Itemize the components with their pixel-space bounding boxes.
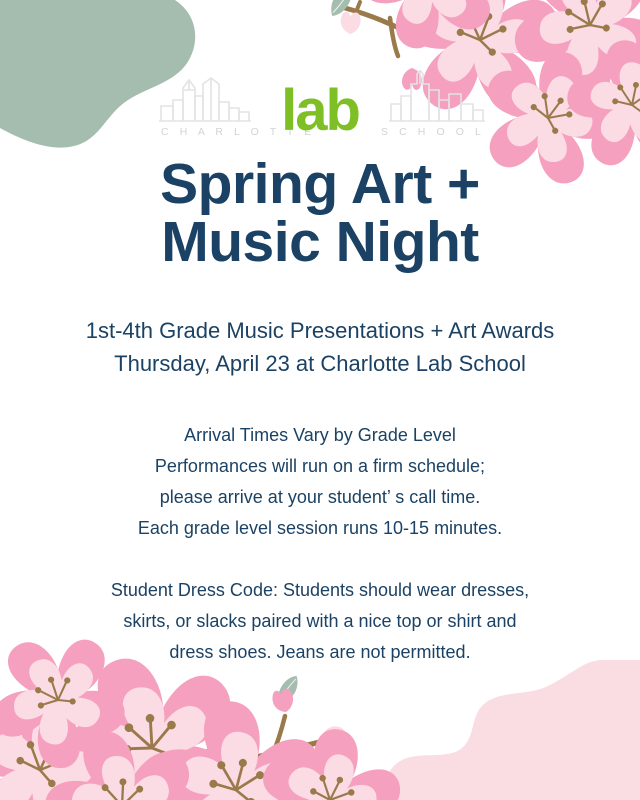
- headline-line-2: Music Night: [0, 213, 640, 271]
- arrival-line-2: Performances will run on a firm schedule…: [0, 451, 640, 482]
- arrival-info-paragraph: Arrival Times Vary by Grade Level Perfor…: [0, 420, 640, 544]
- headline-line-1: Spring Art +: [0, 155, 640, 213]
- dress-code-paragraph: Student Dress Code: Students should wear…: [0, 575, 640, 668]
- arrival-line-3: please arrive at your student’ s call ti…: [0, 482, 640, 513]
- dress-code-line-2: skirts, or slacks paired with a nice top…: [0, 606, 640, 637]
- dress-code-line-1: Student Dress Code: Students should wear…: [0, 575, 640, 606]
- arrival-line-1: Arrival Times Vary by Grade Level: [0, 420, 640, 451]
- arrival-line-4: Each grade level session runs 10-15 minu…: [0, 513, 640, 544]
- subhead-line-1: 1st-4th Grade Music Presentations + Art …: [0, 314, 640, 347]
- poster-canvas: C H A R L O T T E lab S C H O O L Spring…: [0, 0, 640, 800]
- dress-code-line-3: dress shoes. Jeans are not permitted.: [0, 637, 640, 668]
- page-title: Spring Art + Music Night: [0, 155, 640, 271]
- subhead-line-2: Thursday, April 23 at Charlotte Lab Scho…: [0, 347, 640, 380]
- event-subheading: 1st-4th Grade Music Presentations + Art …: [0, 314, 640, 380]
